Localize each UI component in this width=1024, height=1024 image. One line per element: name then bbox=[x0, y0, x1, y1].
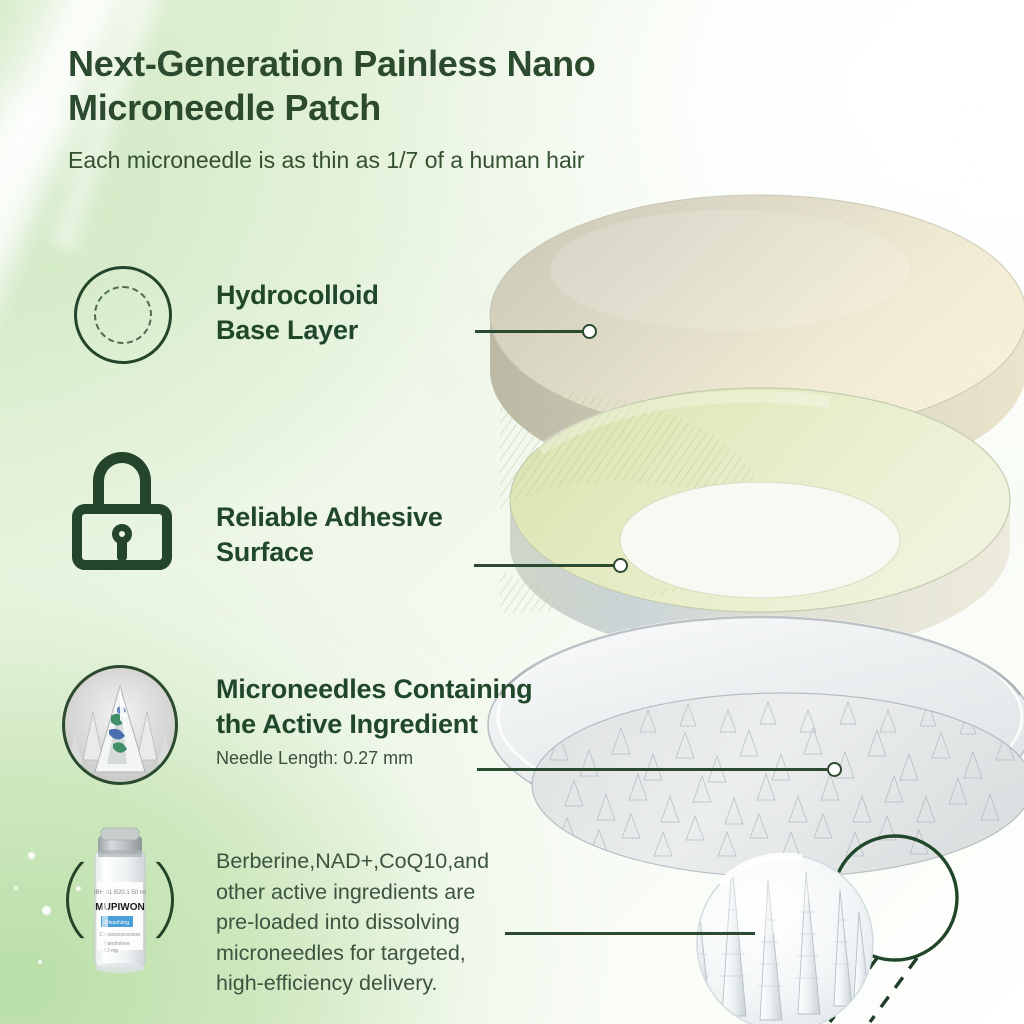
vial-icon: IBH 41 B20.1 50 ml MUPIWON Dissolving Cx… bbox=[58, 838, 182, 966]
feature-body: Berberine,NAD+,CoQ10,and other active in… bbox=[216, 846, 546, 999]
leader-dot-1 bbox=[582, 324, 597, 339]
leader-dot-2 bbox=[613, 558, 628, 573]
microneedle-cones bbox=[65, 668, 175, 782]
leader-line-4 bbox=[505, 932, 755, 935]
page-title: Next-Generation Painless Nano Microneedl… bbox=[68, 42, 768, 130]
feature-heading: Microneedles Containing the Active Ingre… bbox=[216, 672, 656, 741]
vial-graphic: IBH 41 B20.1 50 ml MUPIWON Dissolving Cx… bbox=[58, 810, 182, 986]
padlock-icon bbox=[70, 452, 174, 570]
leader-dot-3 bbox=[827, 762, 842, 777]
leader-line-2 bbox=[474, 564, 616, 567]
leader-line-1 bbox=[475, 330, 585, 333]
sparkle bbox=[14, 886, 18, 890]
page-subtitle: Each microneedle is as thin as 1/7 of a … bbox=[68, 146, 788, 176]
sparkle bbox=[38, 960, 42, 964]
leader-line-3 bbox=[477, 768, 830, 771]
needle-length-label: Needle Length: 0.27 mm bbox=[216, 748, 656, 769]
sparkle bbox=[28, 852, 35, 859]
feature-heading: Reliable Adhesive Surface bbox=[216, 500, 546, 569]
dashed-circle-icon bbox=[74, 266, 172, 364]
svg-text:IBH 41 B20.1 50 ml: IBH 41 B20.1 50 ml bbox=[94, 890, 146, 896]
feature-heading: Hydrocolloid Base Layer bbox=[216, 278, 516, 347]
sparkle bbox=[42, 906, 51, 915]
microneedle-array-icon bbox=[62, 665, 178, 785]
svg-text:Dissolving: Dissolving bbox=[105, 920, 130, 926]
